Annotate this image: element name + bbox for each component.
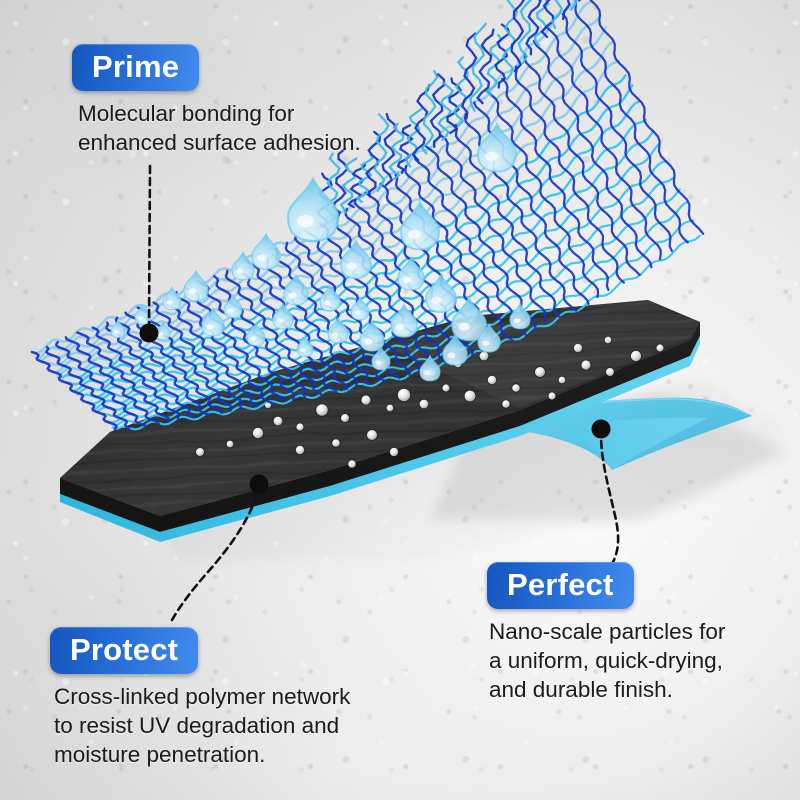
callout-prime: Prime Molecular bonding for enhanced sur… xyxy=(72,44,361,158)
badge-prime[interactable]: Prime xyxy=(72,44,199,91)
badge-protect[interactable]: Protect xyxy=(50,627,198,674)
callout-prime-body: Molecular bonding for enhanced surface a… xyxy=(78,100,361,157)
infographic-canvas: Prime Molecular bonding for enhanced sur… xyxy=(0,0,800,800)
callout-perfect-body: Nano-scale particles for a uniform, quic… xyxy=(489,618,725,704)
callout-protect: Protect Cross-linked polymer network to … xyxy=(50,627,350,769)
anchor-dot-prime xyxy=(140,324,159,343)
callout-protect-body: Cross-linked polymer network to resist U… xyxy=(54,683,350,769)
anchor-dot-protect xyxy=(250,475,269,494)
anchor-dot-perfect xyxy=(592,420,611,439)
callout-perfect: Perfect Nano-scale particles for a unifo… xyxy=(487,562,725,704)
leader-line-prime xyxy=(149,166,150,327)
badge-perfect[interactable]: Perfect xyxy=(487,562,634,609)
